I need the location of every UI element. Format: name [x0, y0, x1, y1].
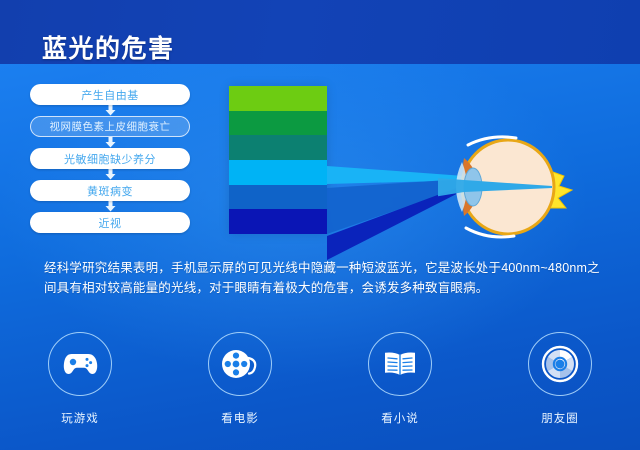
- activity-item[interactable]: 玩游戏: [0, 332, 160, 426]
- activity-label: 看电影: [221, 410, 259, 426]
- lead-paragraph: 经科学研究结果表明，手机显示屏的可见光线中隐藏一种短波蓝光，它是波长处于400n…: [44, 258, 604, 298]
- flow-step-2: 视网膜色素上皮细胞衰亡: [30, 116, 190, 137]
- navy-band: [229, 209, 327, 234]
- flow-step-label: 产生自由基: [81, 87, 139, 103]
- activity-item[interactable]: 看小说: [320, 332, 480, 426]
- activity-label: 玩游戏: [61, 410, 99, 426]
- activity-item[interactable]: 看电影: [160, 332, 320, 426]
- green-band: [229, 86, 327, 111]
- gamepad-icon[interactable]: [48, 332, 112, 396]
- arrow-down-icon: [30, 169, 190, 180]
- film-reel-icon[interactable]: [208, 332, 272, 396]
- flow-step-label: 黄斑病变: [87, 183, 133, 199]
- activity-list: 玩游戏看电影看小说朋友圈: [0, 332, 640, 426]
- flow-step-1: 产生自由基: [30, 84, 190, 105]
- flow-step-label: 近视: [99, 215, 122, 231]
- arrow-down-icon: [30, 201, 190, 212]
- human-eye-diagram: [438, 128, 598, 246]
- visible-light-spectrum-bar: [229, 86, 327, 234]
- dark-green-band: [229, 111, 327, 136]
- arrow-down-icon: [30, 105, 190, 116]
- blue-light-damage-chain: 产生自由基视网膜色素上皮细胞衰亡光敏细胞缺少养分黄斑病变近视: [30, 84, 190, 233]
- page-title: 蓝光的危害: [42, 29, 175, 65]
- activity-label: 朋友圈: [541, 410, 579, 426]
- open-book-icon[interactable]: [368, 332, 432, 396]
- arrow-down-icon: [30, 137, 190, 148]
- flow-step-4: 黄斑病变: [30, 180, 190, 201]
- flow-step-label: 光敏细胞缺少养分: [64, 151, 156, 167]
- teal-band: [229, 135, 327, 160]
- activity-label: 看小说: [381, 410, 419, 426]
- cyan-band: [229, 160, 327, 185]
- blue-light-hazard-infographic: 蓝光的危害 产生自由基视网膜色素上皮细胞衰亡光敏细胞缺少养分黄斑病变近视: [0, 0, 640, 450]
- flow-step-5: 近视: [30, 212, 190, 233]
- camera-aperture-icon[interactable]: [528, 332, 592, 396]
- flow-step-3: 光敏细胞缺少养分: [30, 148, 190, 169]
- blue-band: [229, 185, 327, 210]
- flow-step-label: 视网膜色素上皮细胞衰亡: [50, 119, 171, 134]
- activity-item[interactable]: 朋友圈: [480, 332, 640, 426]
